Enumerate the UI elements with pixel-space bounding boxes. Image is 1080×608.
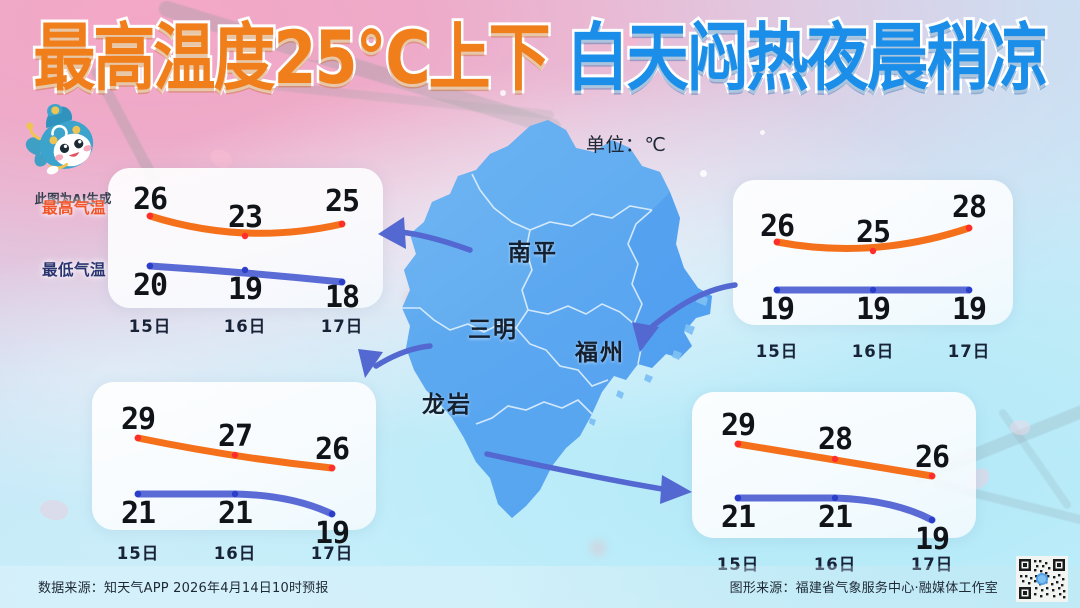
high-value: 28 (818, 422, 852, 457)
footer-bar: 数据来源：知天气APP 2026年4月14日10时预报 图形来源：福建省气象服务… (0, 566, 1080, 608)
legend: 最高气温 最低气温 (16, 196, 132, 280)
infographic-canvas: 最高温度25℃上下 白天闷热夜晨稍凉 (0, 0, 1080, 608)
high-value: 29 (721, 408, 755, 443)
legend-low-label: 最低气温 (16, 258, 132, 280)
date-label: 17日 (321, 313, 363, 337)
sparkle-decoration (760, 130, 765, 135)
low-value: 21 (721, 500, 755, 535)
card-northeast: 26 25 28 19 19 19 (733, 180, 1013, 325)
low-value: 19 (856, 292, 890, 327)
date-label: 15日 (117, 540, 159, 564)
petal-decoration (590, 540, 606, 556)
low-value: 19 (760, 292, 794, 327)
high-value: 26 (133, 182, 167, 217)
map-label-nanping: 南平 (508, 233, 558, 267)
card-northwest: 26 23 25 20 19 18 (108, 168, 383, 308)
headline: 最高温度25℃上下 白天闷热夜晨稍凉 (0, 16, 1080, 100)
low-value: 21 (218, 496, 252, 531)
date-label: 16日 (214, 540, 256, 564)
high-value: 29 (121, 402, 155, 437)
date-label: 15日 (129, 313, 171, 337)
high-value: 28 (952, 190, 986, 225)
high-value: 26 (760, 209, 794, 244)
low-value: 21 (121, 496, 155, 531)
high-value: 26 (915, 440, 949, 475)
date-label: 17日 (311, 540, 353, 564)
card-southwest: 29 27 26 21 21 19 (92, 382, 376, 530)
high-value: 27 (218, 419, 252, 454)
headline-part-1: 最高温度25℃上下 (33, 21, 548, 94)
high-value: 25 (856, 215, 890, 250)
low-value: 20 (133, 268, 167, 303)
fujian-map (380, 118, 740, 538)
legend-high-label: 最高气温 (16, 196, 132, 218)
low-value: 21 (818, 500, 852, 535)
date-label: 15日 (756, 338, 798, 362)
unit-label: 单位：℃ (586, 130, 666, 157)
low-value: 19 (228, 272, 262, 307)
low-value: 19 (952, 292, 986, 327)
high-value: 23 (228, 200, 262, 235)
map-label-sanming: 三明 (468, 310, 518, 344)
low-value: 18 (325, 280, 359, 315)
footer-data-source: 数据来源：知天气APP 2026年4月14日10时预报 (38, 577, 329, 596)
date-label: 17日 (948, 338, 990, 362)
footer-graphic-source: 图形来源：福建省气象服务中心·融媒体工作室 (730, 577, 998, 596)
map-label-fuzhou: 福州 (575, 333, 625, 367)
date-label: 16日 (224, 313, 266, 337)
date-label: 16日 (852, 338, 894, 362)
high-value: 25 (325, 184, 359, 219)
weather-mascot-icon (22, 100, 114, 186)
map-label-longyan: 龙岩 (422, 385, 472, 419)
high-value: 26 (315, 432, 349, 467)
card-southeast: 29 28 26 21 21 19 (692, 392, 976, 538)
qr-code[interactable] (1012, 556, 1072, 602)
mascot-group: 此图为AI生成 (18, 100, 128, 186)
headline-part-2: 白天闷热夜晨稍凉 (567, 21, 1047, 94)
